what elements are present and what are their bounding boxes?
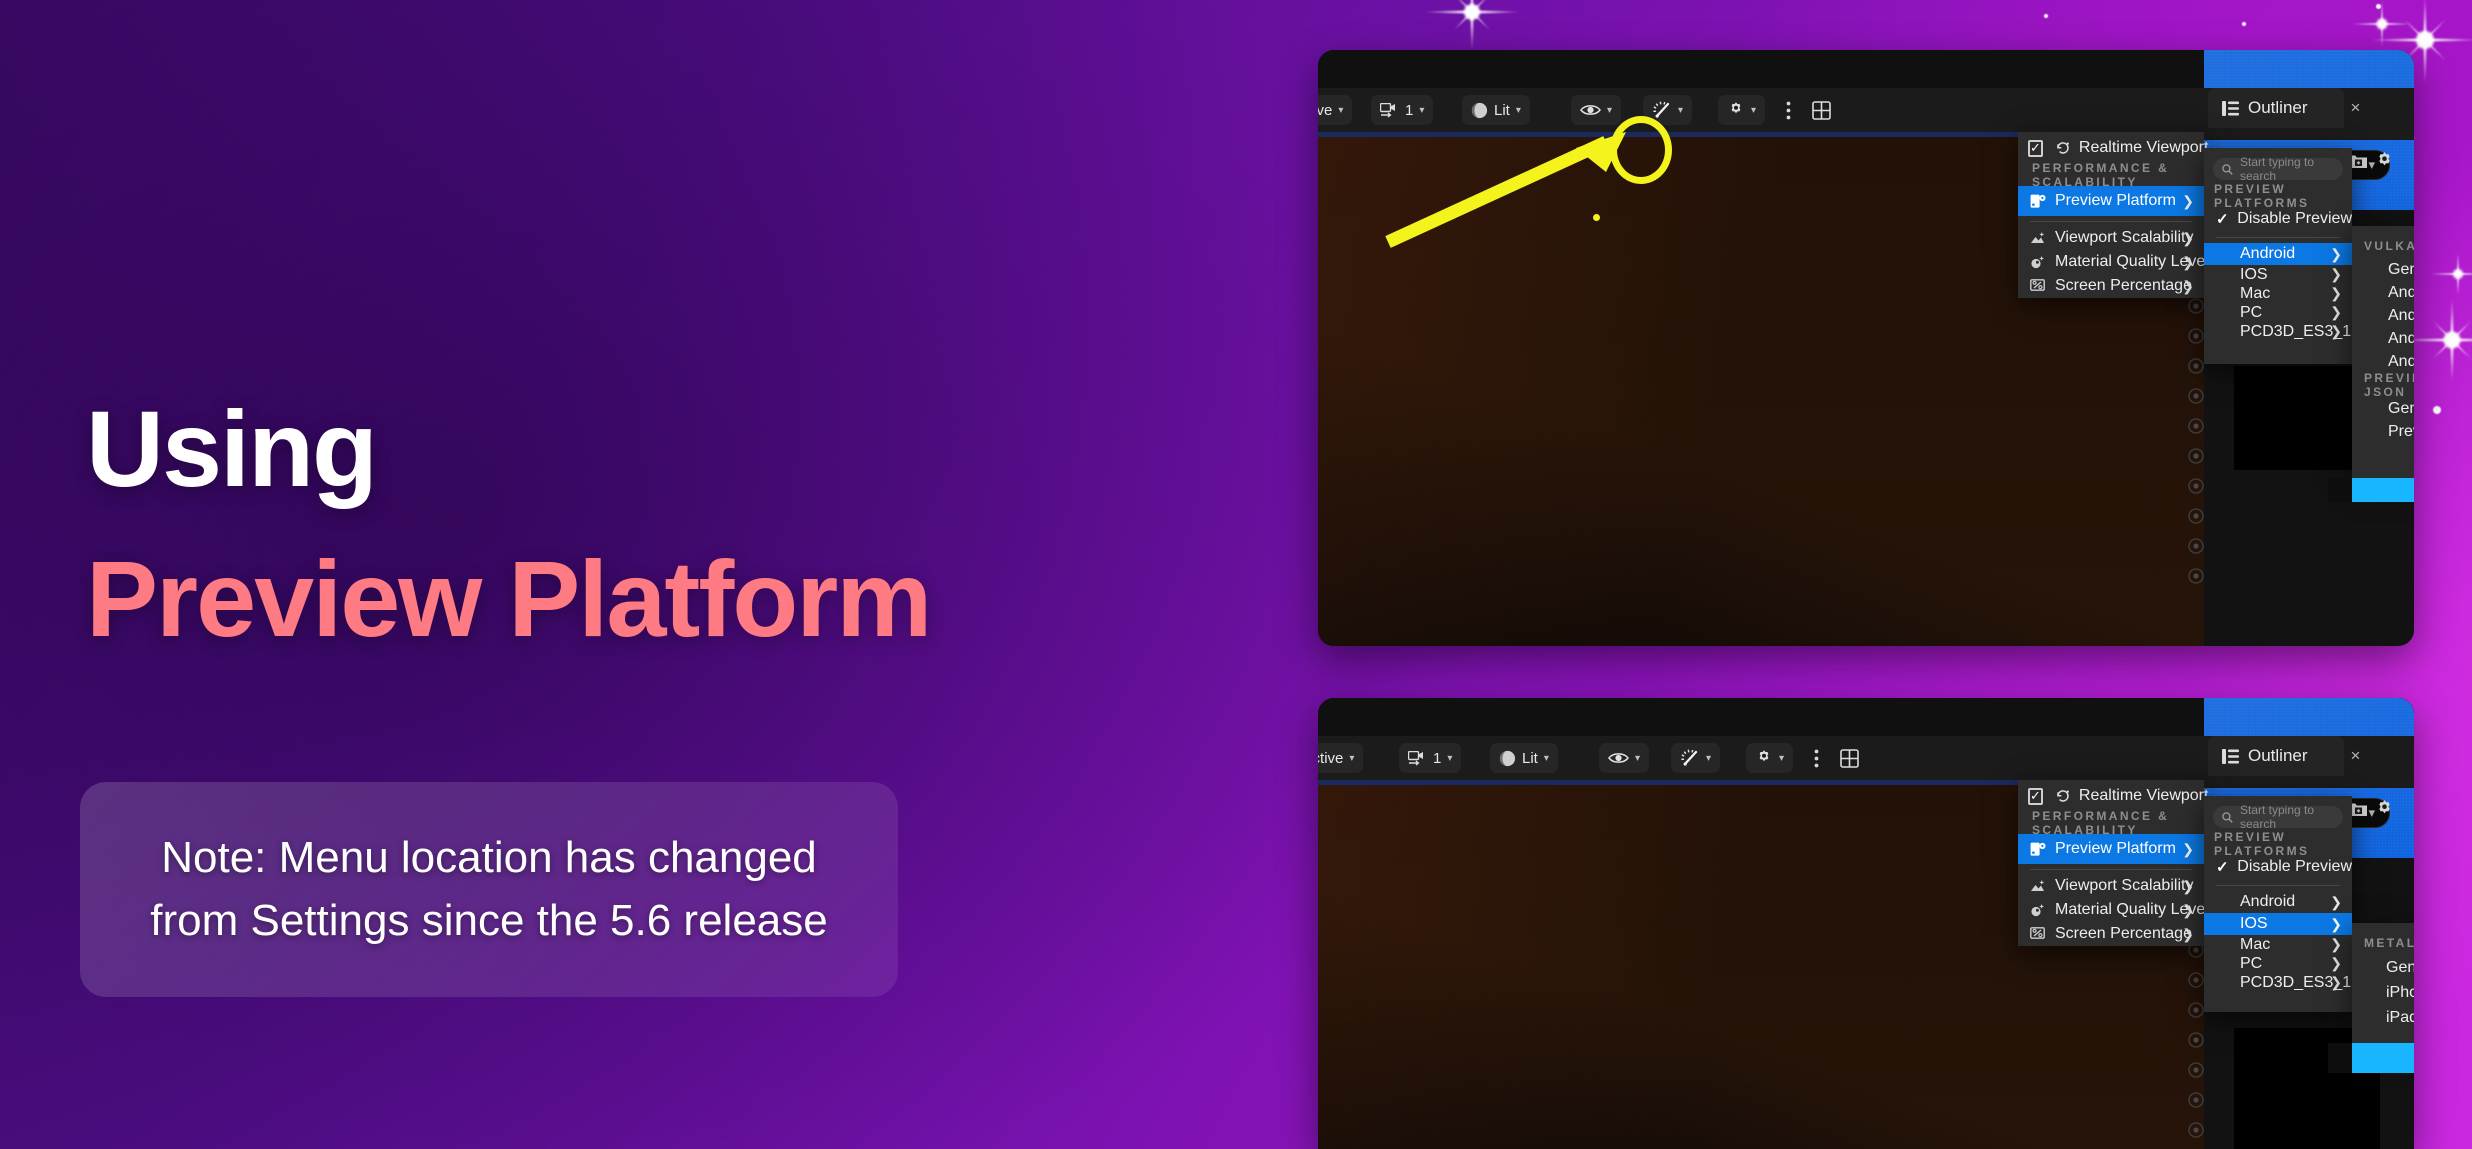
blue-panel-highlight-bar xyxy=(2352,1043,2414,1073)
menu-divider xyxy=(2216,237,2340,238)
chevron-down-icon: ▾ xyxy=(1447,753,1452,764)
tab-outliner-label: Outliner xyxy=(2248,98,2308,118)
menu-item-preview-platform-label: Preview Platform xyxy=(2055,192,2176,210)
screen-percentage-icon xyxy=(2030,927,2045,941)
realtime-icon xyxy=(2056,141,2071,155)
menu-item-material-quality-level[interactable]: Material Quality Level ❯ xyxy=(2018,250,2204,274)
menu-item-device[interactable]: Android Vulkan Mid xyxy=(2352,304,2414,327)
menu-divider xyxy=(2030,221,2192,222)
lighting-mode-dropdown[interactable]: Lit ▾ xyxy=(1490,743,1558,773)
view-mode-label: tive xyxy=(1318,102,1332,119)
search-icon xyxy=(2222,812,2233,823)
view-mode-label: erspective xyxy=(1318,750,1343,767)
chevron-right-icon: ❯ xyxy=(2330,285,2342,302)
sphere-icon xyxy=(1499,750,1516,767)
menu-item-label: iPad Pro 6 12.9in xyxy=(2386,1009,2414,1027)
camera-icon xyxy=(1408,751,1427,766)
performance-scalability-dropdown[interactable]: ▾ xyxy=(1671,743,1720,773)
lighting-mode-label: Lit xyxy=(1494,102,1510,119)
camera-icon xyxy=(1380,103,1399,118)
tab-outliner[interactable]: Outliner × xyxy=(2208,88,2344,128)
menu-section-preview-platforms: PREVIEW PLATFORMS xyxy=(2204,833,2352,855)
menu-item-label: Android xyxy=(2240,893,2295,911)
menu-section-preview-platforms-label: PREVIEW PLATFORMS xyxy=(2214,182,2332,210)
chevron-right-icon: ❯ xyxy=(2330,974,2342,991)
check-icon: ✓ xyxy=(2216,210,2231,228)
chevron-down-icon: ▾ xyxy=(1419,105,1424,116)
android-vulkan-submenu: VULKAN Generic Android Vulkan Android Vu… xyxy=(2352,226,2414,478)
more-options-button[interactable] xyxy=(1780,95,1797,125)
realtime-icon xyxy=(2056,789,2071,803)
camera-count-label: 1 xyxy=(1405,102,1413,119)
menu-item-disable-preview[interactable]: ✓ Disable Preview xyxy=(2204,855,2352,879)
menu-item-device[interactable]: Android Vulkan Low xyxy=(2352,281,2414,304)
chevron-right-icon: ❯ xyxy=(2330,936,2342,953)
menu-item-label: Generic Android Vulkan xyxy=(2388,261,2414,279)
menu-item-label: IOS xyxy=(2240,266,2268,284)
menu-item-preview-platform[interactable]: Preview Platform ❯ xyxy=(2018,834,2204,864)
viewport-settings-dropdown[interactable]: ▾ xyxy=(1718,95,1765,125)
menu-item-generate-platform-json[interactable]: Generate Platform Json... xyxy=(2352,397,2414,420)
chevron-right-icon: ❯ xyxy=(2182,926,2194,943)
tab-outliner-label: Outliner xyxy=(2248,746,2308,766)
chevron-down-icon: ▾ xyxy=(1349,753,1354,764)
chevron-right-icon: ❯ xyxy=(2330,304,2342,321)
menu-item-label: Android Vulkan Low xyxy=(2388,284,2414,302)
menu-section-performance: PERFORMANCE & SCALABILITY xyxy=(2018,164,2204,186)
menu-item-screen-percentage[interactable]: Screen Percentage ❯ xyxy=(2018,274,2204,298)
menu-item-realtime-viewport[interactable]: ✓ Realtime Viewport xyxy=(2018,780,2204,812)
chevron-right-icon: ❯ xyxy=(2330,955,2342,972)
menu-section-vulkan: VULKAN xyxy=(2352,234,2414,258)
chevron-right-icon: ❯ xyxy=(2182,878,2194,895)
menu-section-preview-with-json: PREVIEW WITH JSON xyxy=(2352,373,2414,397)
preview-platform-submenu: Start typing to search PREVIEW PLATFORMS… xyxy=(2204,148,2352,364)
viewport-scalability-icon xyxy=(2030,879,2045,893)
menu-item-device[interactable]: Android Vulkan High xyxy=(2352,327,2414,350)
page-title-line2: Preview Platform xyxy=(86,545,930,653)
grid-icon xyxy=(1812,101,1831,120)
left-text-column: Using Preview Platform Note: Menu locati… xyxy=(0,0,1300,1149)
menu-item-device[interactable]: Generic Android Vulkan xyxy=(2352,258,2414,281)
chevron-down-icon: ▾ xyxy=(1751,105,1756,116)
menu-section-preview-platforms: PREVIEW PLATFORMS xyxy=(2204,185,2352,207)
chevron-down-icon: ▾ xyxy=(1544,753,1549,764)
viewport-settings-dropdown[interactable]: ▾ xyxy=(1746,743,1793,773)
platform-search-input[interactable]: Start typing to search xyxy=(2213,806,2343,828)
menu-item-label: IOS xyxy=(2240,915,2268,933)
menu-item-label: Android Vulkan High xyxy=(2388,330,2414,348)
chevron-right-icon: ❯ xyxy=(2182,902,2194,919)
menu-section-metal: METAL xyxy=(2352,931,2414,955)
chevron-down-icon: ▾ xyxy=(1706,753,1711,764)
outliner-settings-gear-icon[interactable] xyxy=(2375,151,2394,170)
viewport-actor-gizmos xyxy=(2188,260,2204,630)
chevron-right-icon: ❯ xyxy=(2182,254,2194,271)
menu-item-label: Generic IOS xyxy=(2386,959,2414,977)
menu-section-json-label: PREVIEW WITH JSON xyxy=(2364,371,2414,399)
page-title-line1: Using xyxy=(86,395,376,503)
menu-item-platform-ios[interactable]: IOS ❯ xyxy=(2204,913,2352,935)
menu-item-realtime-label: Realtime Viewport xyxy=(2079,787,2209,805)
more-options-button[interactable] xyxy=(1808,743,1825,773)
screen-percentage-icon xyxy=(2030,279,2045,293)
sparkle-dot-icon xyxy=(2242,22,2246,26)
menu-divider xyxy=(2216,885,2340,886)
layout-grid-button[interactable] xyxy=(1834,743,1865,773)
grid-icon xyxy=(1840,749,1859,768)
menu-item-disable-preview-label: Disable Preview xyxy=(2237,858,2352,876)
arrow-annotation xyxy=(1380,120,1680,250)
menu-item-label: Viewport Scalability xyxy=(2055,229,2193,247)
note-callout-box: Note: Menu location has changed from Set… xyxy=(80,782,898,997)
chevron-down-icon: ▾ xyxy=(1338,105,1343,116)
material-quality-icon xyxy=(2030,903,2045,917)
menu-item-platform-mac[interactable]: Mac ❯ xyxy=(2204,935,2352,954)
chevron-down-icon: ▾ xyxy=(1779,753,1784,764)
menu-item-label: Preview Vulkan xyxy=(2388,423,2414,441)
menu-item-label: Screen Percentage xyxy=(2055,277,2192,295)
menu-item-disable-preview-label: Disable Preview xyxy=(2237,210,2352,228)
menu-item-viewport-scalability[interactable]: Viewport Scalability ❯ xyxy=(2018,226,2204,250)
menu-item-platform-mac[interactable]: Mac ❯ xyxy=(2204,284,2352,303)
gear-icon xyxy=(1727,101,1745,119)
sparkle-dot-icon xyxy=(2433,406,2441,414)
chevron-down-icon: ▾ xyxy=(1516,105,1521,116)
blue-panel-highlight-bar xyxy=(2352,478,2414,502)
outliner-icon xyxy=(2222,749,2239,764)
checkbox-checked-icon[interactable]: ✓ xyxy=(2028,140,2043,157)
show-flags-dropdown[interactable]: ▾ xyxy=(1599,743,1649,773)
camera-speed-dropdown[interactable]: 1 ▾ xyxy=(1399,743,1461,773)
chevron-down-icon: ▾ xyxy=(1678,105,1683,116)
menu-item-platform-pc[interactable]: PC ❯ xyxy=(2204,954,2352,973)
view-mode-dropdown[interactable]: erspective ▾ xyxy=(1318,743,1363,773)
chevron-right-icon: ❯ xyxy=(2330,246,2342,263)
menu-item-device[interactable]: iPhone 6S xyxy=(2352,980,2414,1005)
menu-section-vulkan-label: VULKAN xyxy=(2364,239,2414,253)
menu-item-label: Android xyxy=(2240,245,2295,263)
chevron-down-icon: ▾ xyxy=(1635,753,1640,764)
menu-item-realtime-viewport[interactable]: ✓ Realtime Viewport xyxy=(2018,132,2204,164)
chevron-right-icon: ❯ xyxy=(2330,894,2342,911)
menu-item-label: iPhone 6S xyxy=(2386,984,2414,1002)
eye-icon xyxy=(1608,751,1629,765)
close-icon[interactable]: × xyxy=(2317,746,2361,766)
camera-count-label: 1 xyxy=(1433,750,1441,767)
tab-outliner[interactable]: Outliner × xyxy=(2208,736,2344,776)
menu-item-platform-pcd3d[interactable]: PCD3D_ES3_1 ❯ xyxy=(2204,973,2352,992)
sparkle-dot-icon xyxy=(2376,4,2381,9)
search-icon xyxy=(2222,164,2233,175)
menu-item-label: Generate Platform Json... xyxy=(2388,400,2414,418)
close-icon[interactable]: × xyxy=(2317,98,2361,118)
chevron-right-icon: ❯ xyxy=(2182,841,2194,858)
menu-item-device[interactable]: Android Generic XR xyxy=(2352,350,2414,373)
platform-search-placeholder: Start typing to search xyxy=(2240,803,2334,831)
check-icon: ✓ xyxy=(2216,858,2231,876)
material-quality-icon xyxy=(2030,255,2045,269)
eye-icon xyxy=(1580,103,1601,117)
menu-item-platform-ios[interactable]: IOS ❯ xyxy=(2204,265,2352,284)
menu-item-material-quality-level[interactable]: Material Quality Level ❯ xyxy=(2018,898,2204,922)
menu-item-device[interactable]: Generic IOS xyxy=(2352,955,2414,980)
speedometer-icon xyxy=(1652,101,1672,119)
chevron-right-icon: ❯ xyxy=(2182,230,2194,247)
menu-item-platform-pcd3d[interactable]: PCD3D_ES3_1 ❯ xyxy=(2204,322,2352,341)
gear-icon xyxy=(1755,749,1773,767)
menu-item-label: Screen Percentage xyxy=(2055,925,2192,943)
viewport-scalability-icon xyxy=(2030,231,2045,245)
performance-scalability-menu: ✓ Realtime Viewport PERFORMANCE & SCALAB… xyxy=(2018,132,2204,298)
menu-section-preview-platforms-label: PREVIEW PLATFORMS xyxy=(2214,830,2332,858)
menu-item-label: Android Generic XR xyxy=(2388,353,2414,371)
menu-section-performance-label: PERFORMANCE & SCALABILITY xyxy=(2032,161,2180,189)
menu-section-performance-label: PERFORMANCE & SCALABILITY xyxy=(2032,809,2180,837)
chevron-right-icon: ❯ xyxy=(2182,278,2194,295)
pointer-dot-annotation xyxy=(1593,214,1600,221)
sparkle-dot-icon xyxy=(2044,14,2048,18)
note-text: Note: Menu location has changed from Set… xyxy=(139,827,839,952)
kebab-icon xyxy=(1814,749,1819,768)
menu-item-label: PC xyxy=(2240,955,2262,973)
menu-item-label: Viewport Scalability xyxy=(2055,877,2193,895)
menu-item-label: Mac xyxy=(2240,285,2270,303)
menu-item-label: Mac xyxy=(2240,936,2270,954)
chevron-right-icon: ❯ xyxy=(2330,916,2342,933)
checkbox-checked-icon[interactable]: ✓ xyxy=(2028,788,2043,805)
chevron-down-icon: ▾ xyxy=(1607,105,1612,116)
menu-item-preview-platform[interactable]: Preview Platform ❯ xyxy=(2018,186,2204,216)
menu-item-preview-platform-label: Preview Platform xyxy=(2055,840,2176,858)
sphere-icon xyxy=(1471,102,1488,119)
menu-divider xyxy=(2030,869,2192,870)
chevron-right-icon: ❯ xyxy=(2182,193,2194,210)
chevron-right-icon: ❯ xyxy=(2330,266,2342,283)
preview-platform-icon xyxy=(2030,842,2046,857)
blue-panel-corner xyxy=(2328,478,2352,502)
platform-search-placeholder: Start typing to search xyxy=(2240,155,2334,183)
menu-item-platform-pc[interactable]: PC ❯ xyxy=(2204,303,2352,322)
kebab-icon xyxy=(1786,101,1791,120)
menu-item-platform-android[interactable]: Android ❯ xyxy=(2204,891,2352,913)
platform-search-input[interactable]: Start typing to search xyxy=(2213,158,2343,180)
menu-section-performance: PERFORMANCE & SCALABILITY xyxy=(2018,812,2204,834)
menu-item-platform-android[interactable]: Android ❯ xyxy=(2204,243,2352,265)
view-mode-dropdown[interactable]: tive ▾ xyxy=(1318,95,1352,125)
menu-item-label: Android Vulkan Mid xyxy=(2388,307,2414,325)
ios-metal-submenu: METAL Generic IOS iPhone 6S iPad Pro 6 1… xyxy=(2352,923,2414,1043)
ue-editor-chrome: erspective ▾ 1 ▾ Lit ▾ xyxy=(1318,698,2414,1149)
speedometer-icon xyxy=(1680,749,1700,767)
performance-scalability-menu: ✓ Realtime Viewport PERFORMANCE & SCALAB… xyxy=(2018,780,2204,946)
menu-item-disable-preview[interactable]: ✓ Disable Preview xyxy=(2204,207,2352,231)
menu-item-label: PC xyxy=(2240,304,2262,322)
outliner-icon xyxy=(2222,101,2239,116)
preview-platform-icon xyxy=(2030,194,2046,209)
preview-platform-submenu: Start typing to search PREVIEW PLATFORMS… xyxy=(2204,796,2352,1012)
chevron-right-icon: ❯ xyxy=(2330,323,2342,340)
lighting-mode-label: Lit xyxy=(1522,750,1538,767)
outliner-settings-gear-icon[interactable] xyxy=(2375,799,2394,818)
menu-item-device[interactable]: iPad Pro 6 12.9in xyxy=(2352,1005,2414,1030)
layout-grid-button[interactable] xyxy=(1806,95,1837,125)
screenshot-card-ios: erspective ▾ 1 ▾ Lit ▾ xyxy=(1318,698,2414,1149)
menu-item-realtime-label: Realtime Viewport xyxy=(2079,139,2209,157)
viewport-toolbar: erspective ▾ 1 ▾ Lit ▾ xyxy=(1318,736,2204,780)
menu-item-screen-percentage[interactable]: Screen Percentage ❯ xyxy=(2018,922,2204,946)
blue-panel-corner xyxy=(2328,1043,2352,1073)
menu-item-viewport-scalability[interactable]: Viewport Scalability ❯ xyxy=(2018,874,2204,898)
menu-section-metal-label: METAL xyxy=(2364,936,2414,950)
menu-item-preview-vulkan[interactable]: Preview Vulkan ❯ xyxy=(2352,420,2414,443)
viewport-actor-gizmos xyxy=(2188,934,2204,1149)
